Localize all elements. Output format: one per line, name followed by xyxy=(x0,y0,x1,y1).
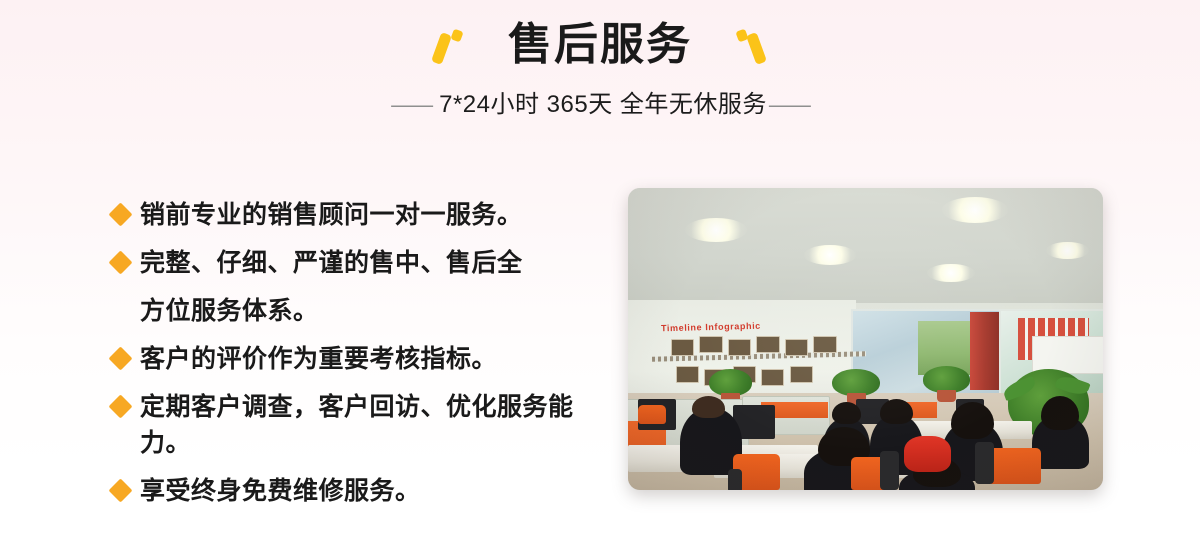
page-root: 售后服务 —— 7*24小时 365天 全年无休服务 —— 销前专业的销售顾问一… xyxy=(0,0,1200,556)
list-item-continuation: 方位服务体系。 xyxy=(112,293,622,329)
list-item-label: 客户的评价作为重要考核指标。 xyxy=(140,341,497,377)
subtitle-dash-right: —— xyxy=(769,88,809,122)
list-item: 定期客户调查，客户回访、优化服务能力。 xyxy=(112,389,622,461)
list-item-label: 方位服务体系。 xyxy=(140,293,319,329)
service-feature-list: 销前专业的销售顾问一对一服务。 完整、仔细、严谨的售中、售后全 方位服务体系。 … xyxy=(112,197,622,521)
list-item: 完整、仔细、严谨的售中、售后全 xyxy=(112,245,622,281)
office-photo: Timeline Infographic xyxy=(628,188,1103,490)
office-photo-image: Timeline Infographic xyxy=(628,188,1103,490)
header: 售后服务 —— 7*24小时 365天 全年无休服务 —— xyxy=(0,0,1200,140)
subtitle-dash-left: —— xyxy=(391,88,431,122)
list-item-label: 享受终身免费维修服务。 xyxy=(140,473,421,509)
page-title: 售后服务 xyxy=(508,18,692,72)
list-item: 客户的评价作为重要考核指标。 xyxy=(112,341,622,377)
list-item-label: 完整、仔细、严谨的售中、售后全 xyxy=(140,245,523,281)
diamond-bullet-icon xyxy=(108,394,132,418)
subtitle-text: 7*24小时 365天 全年无休服务 xyxy=(439,88,767,122)
subtitle-row: —— 7*24小时 365天 全年无休服务 —— xyxy=(0,88,1200,122)
quote-mark-left-icon xyxy=(430,24,472,66)
list-item-label: 销前专业的销售顾问一对一服务。 xyxy=(140,197,523,233)
title-row: 售后服务 xyxy=(0,18,1200,72)
diamond-bullet-icon xyxy=(108,478,132,502)
diamond-bullet-icon xyxy=(108,202,132,226)
quote-mark-right-icon xyxy=(728,24,770,66)
list-item-label: 定期客户调查，客户回访、优化服务能力。 xyxy=(140,389,622,461)
list-item: 销前专业的销售顾问一对一服务。 xyxy=(112,197,622,233)
content-area: 销前专业的销售顾问一对一服务。 完整、仔细、严谨的售中、售后全 方位服务体系。 … xyxy=(0,155,1200,555)
list-item: 享受终身免费维修服务。 xyxy=(112,473,622,509)
diamond-bullet-icon xyxy=(108,250,132,274)
diamond-bullet-icon xyxy=(108,346,132,370)
